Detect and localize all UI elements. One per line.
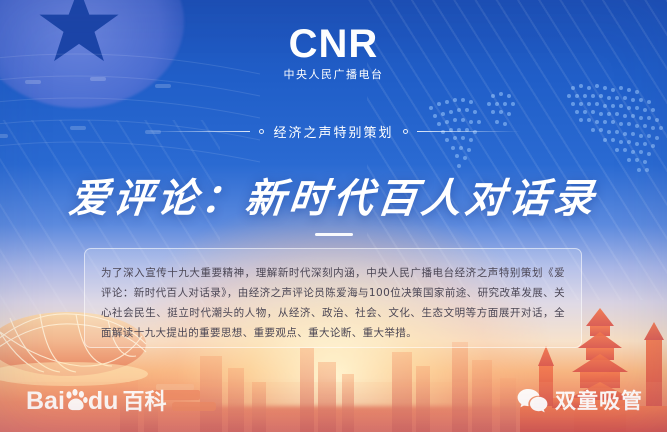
circle-dot-icon [259,129,264,134]
title-divider [315,233,353,236]
baidu-bai-text: Bai [26,389,65,414]
wechat-watermark: 双童吸管 [517,388,643,414]
poster-canvas: CNR 中央人民广播电台 经济之声特别策划 爱评论：新时代百人对话录 为了深入宣… [0,0,667,432]
page-title: 爱评论：新时代百人对话录 [0,166,667,224]
baidu-paw-icon [64,389,88,414]
description-text: 为了深入宣传十九大重要精神，理解新时代深刻内涵，中央人民广播电台经济之声特别策划… [101,263,565,343]
circle-dot-icon [403,129,408,134]
eyebrow-line-left [146,131,250,132]
wechat-bubbles-icon [517,388,548,414]
baidu-du-text: du [88,389,119,414]
baidu-baike-cn-text: 百科 [122,392,166,414]
cnr-logo-mark: CNR [0,24,667,64]
description-panel: 为了深入宣传十九大重要精神，理解新时代深刻内涵，中央人民广播电台经济之声特别策划… [84,248,582,348]
eyebrow-label: 经济之声特别策划 [273,122,393,141]
baidu-baike-watermark: Bai du 百科 [26,389,166,414]
cnr-logo-subtitle: 中央人民广播电台 [0,69,667,80]
eyebrow-row: 经济之声特别策划 [0,122,667,141]
wechat-label: 双童吸管 [555,391,643,412]
eyebrow-line-right [417,131,521,132]
cnr-logo-icon: CNR 中央人民广播电台 [0,24,667,80]
